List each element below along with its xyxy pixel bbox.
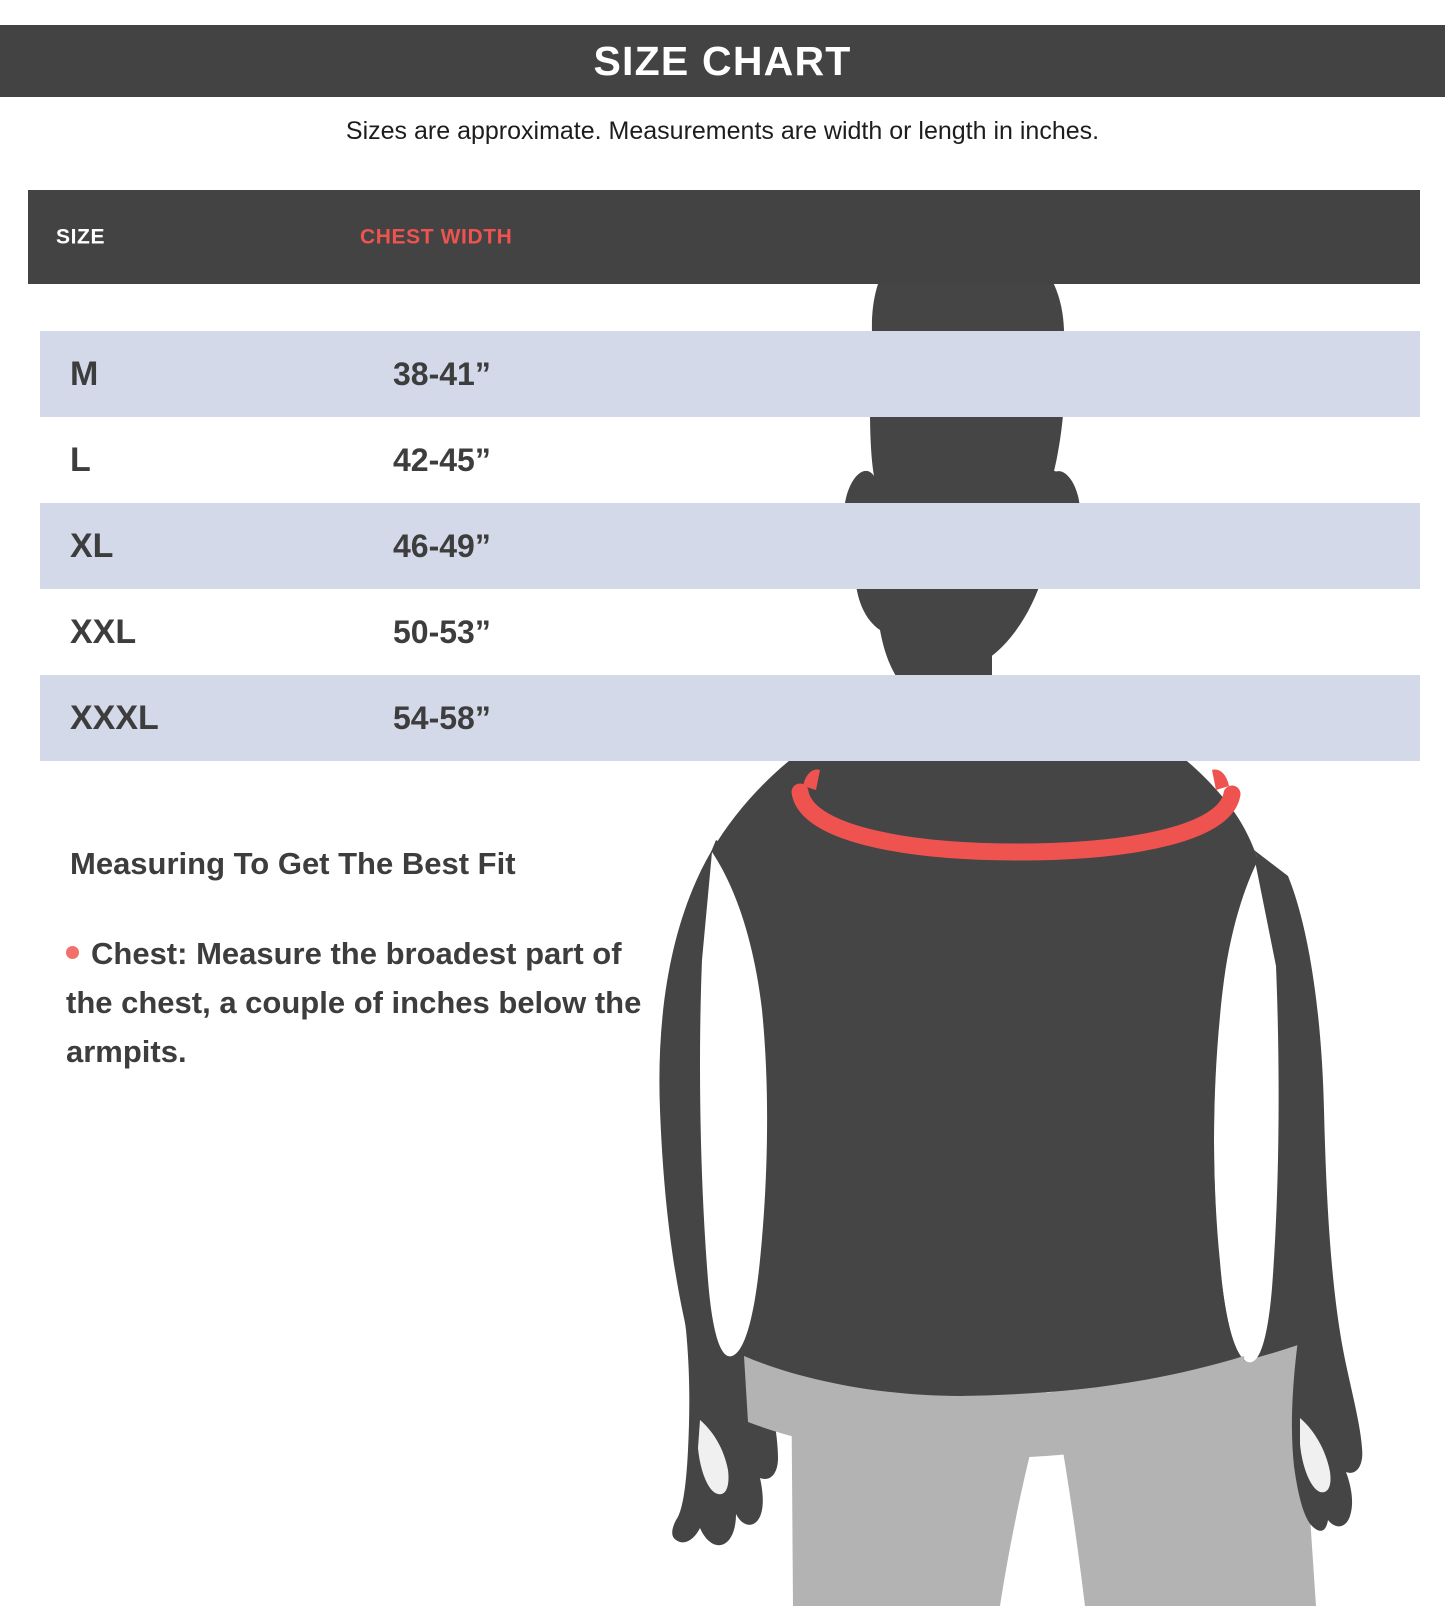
cell-chest: 38-41” — [393, 358, 491, 390]
cell-size: M — [70, 357, 98, 391]
cell-chest: 50-53” — [393, 616, 491, 648]
size-table-rows: M 38-41” L 42-45” XL 46-49” XXL 50-53” X… — [0, 0, 1445, 1606]
table-row: XXXL 54-58” — [0, 675, 760, 761]
cell-chest: 54-58” — [393, 702, 491, 734]
cell-size: L — [70, 443, 91, 477]
table-row: L 42-45” — [0, 417, 760, 503]
cell-chest: 42-45” — [393, 444, 491, 476]
table-row: M 38-41” — [0, 331, 760, 417]
cell-chest: 46-49” — [393, 530, 491, 562]
bullet-dot-icon — [66, 946, 79, 959]
measuring-list-item: Chest: Measure the broadest part of the … — [66, 930, 674, 1077]
table-row: XXL 50-53” — [0, 589, 760, 675]
size-chart-page: SIZE CHART Sizes are approximate. Measur… — [0, 0, 1445, 1606]
cell-size: XL — [70, 529, 113, 563]
measuring-instructions: Measuring To Get The Best Fit Chest: Mea… — [0, 845, 700, 1077]
cell-size: XXL — [70, 615, 136, 649]
cell-size: XXXL — [70, 701, 159, 735]
measuring-heading: Measuring To Get The Best Fit — [70, 845, 700, 882]
measuring-item-text: Chest: Measure the broadest part of the … — [66, 936, 641, 1069]
table-row: XL 46-49” — [0, 503, 760, 589]
